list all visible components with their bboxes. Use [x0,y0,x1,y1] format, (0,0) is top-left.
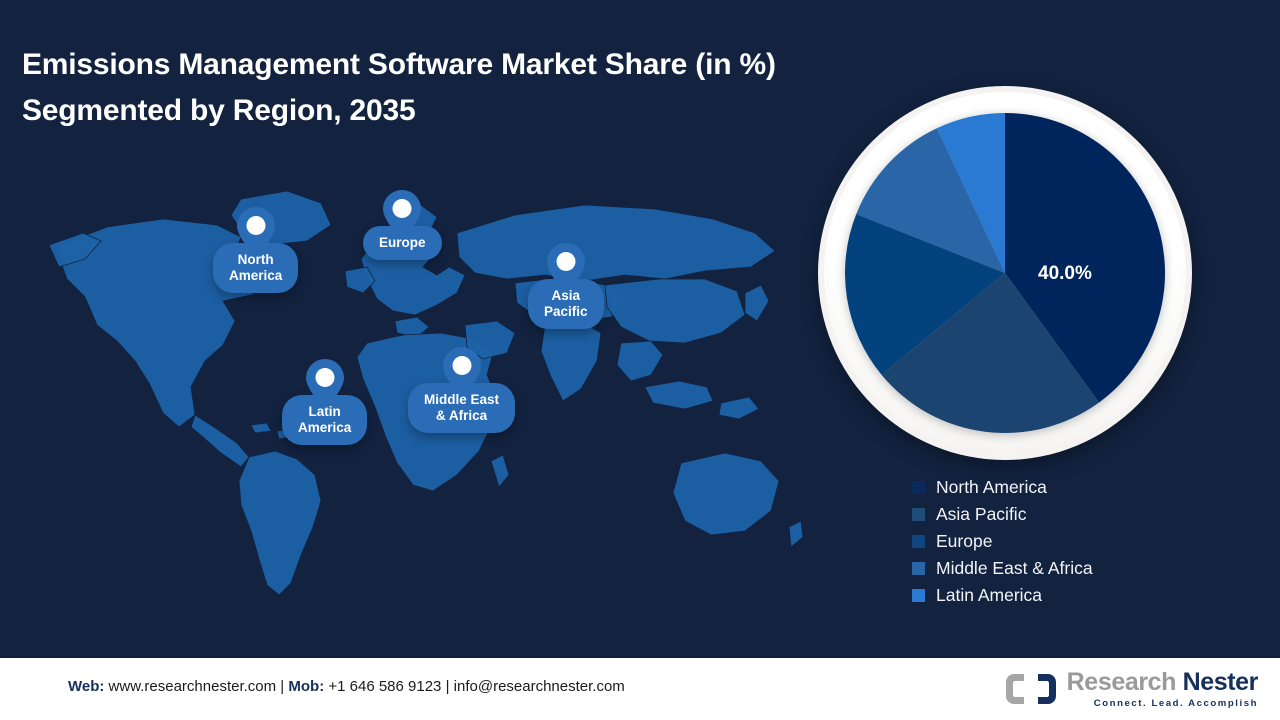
legend-swatch-icon [912,481,925,494]
footer-bar: Web: www.researchnester.com | Mob: +1 64… [0,656,1280,720]
logo-tagline: Connect. Lead. Accomplish [1067,699,1258,709]
pie-chart: 40.0% [818,86,1192,460]
legend-item-europe[interactable]: Europe [912,528,1242,555]
legend-label: North America [936,479,1047,497]
logo-wordmark: Research Nester Connect. Lead. Accomplis… [1067,670,1258,709]
legend-swatch-icon [912,535,925,548]
location-pin-icon [443,347,481,397]
map-marker-europe[interactable]: Europe [363,190,442,260]
location-pin-icon [306,359,344,409]
footer-contact-line: Web: www.researchnester.com | Mob: +1 64… [68,678,625,695]
map-marker-north-america[interactable]: North America [213,207,298,293]
footer-email-address[interactable]: info@researchnester.com [454,678,625,695]
legend-label: Europe [936,533,992,551]
page-title-line-1: Emissions Management Software Market Sha… [22,42,882,88]
legend-item-middle-east-africa[interactable]: Middle East & Africa [912,555,1242,582]
map-marker-middle-east-africa[interactable]: Middle East & Africa [408,347,515,433]
chart-legend: North America Asia Pacific Europe Middle… [912,474,1242,609]
logo-mark-icon [1006,672,1058,706]
page-title: Emissions Management Software Market Sha… [22,42,882,133]
logo-company-name: Research Nester [1067,670,1258,695]
legend-swatch-icon [912,562,925,575]
map-marker-latin-america[interactable]: Latin America [282,359,367,445]
legend-label: Asia Pacific [936,506,1026,524]
location-pin-icon [383,190,421,240]
world-map-region: North America Europe Asia Pacific Latin … [45,175,805,595]
legend-swatch-icon [912,508,925,521]
footer-web-label: Web: [68,678,104,695]
logo-word-nester: Nester [1176,668,1258,696]
legend-swatch-icon [912,589,925,602]
footer-separator-2: | [446,678,454,695]
location-pin-icon [237,207,275,257]
legend-item-latin-america[interactable]: Latin America [912,582,1242,609]
logo-word-research: Research [1067,668,1176,696]
legend-label: Latin America [936,587,1042,605]
legend-item-north-america[interactable]: North America [912,474,1242,501]
pie-slices [845,113,1165,433]
footer-mob-label: Mob: [288,678,324,695]
company-logo[interactable]: Research Nester Connect. Lead. Accomplis… [1006,665,1258,713]
pie-slice-value-label: 40.0% [1038,263,1092,285]
page-title-line-2: Segmented by Region, 2035 [22,88,882,134]
location-pin-icon [547,243,585,293]
legend-item-asia-pacific[interactable]: Asia Pacific [912,501,1242,528]
map-marker-asia-pacific[interactable]: Asia Pacific [528,243,604,329]
footer-phone-number[interactable]: +1 646 586 9123 [324,678,445,695]
footer-web-url[interactable]: www.researchnester.com [104,678,280,695]
legend-label: Middle East & Africa [936,560,1093,578]
